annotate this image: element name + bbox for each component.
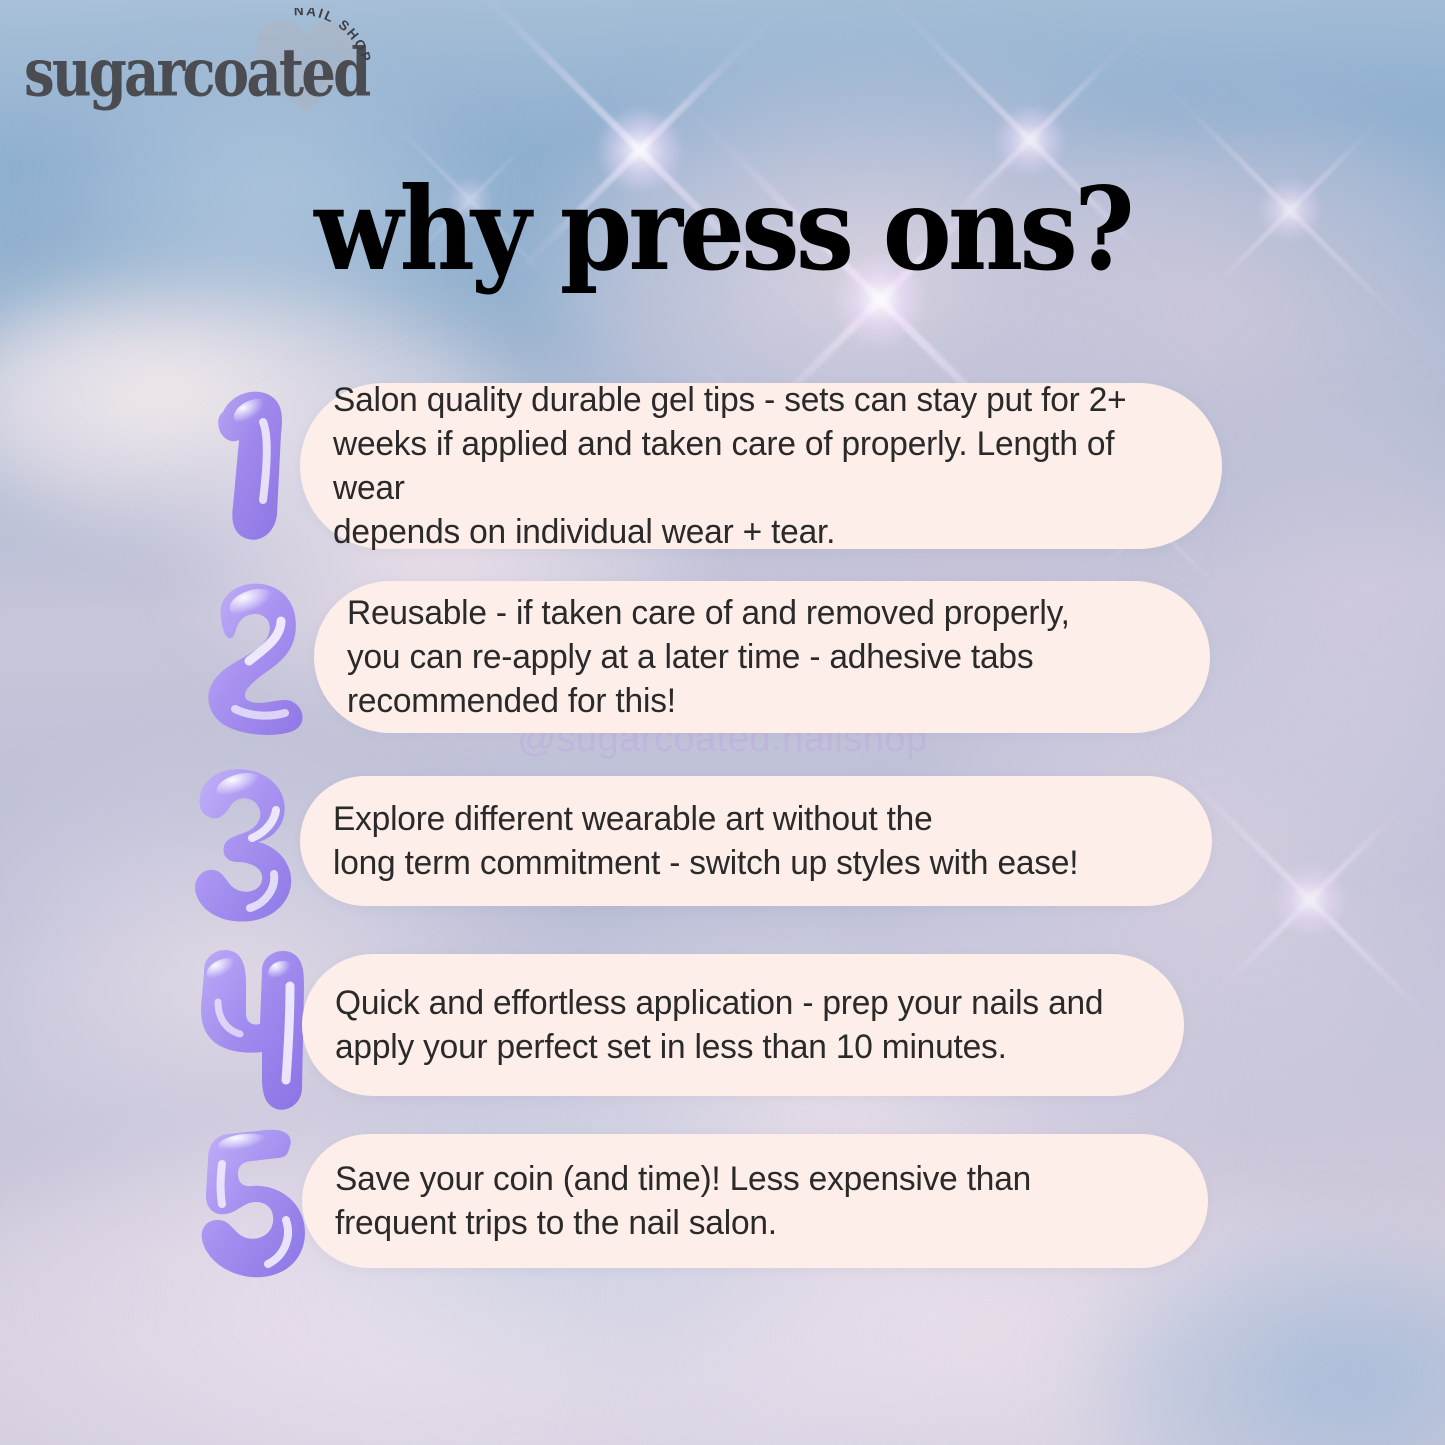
benefits-list: Salon quality durable gel tips - sets ca…: [0, 0, 1445, 1445]
number-1-balloon-icon: [196, 380, 316, 552]
benefit-text: Reusable - if taken care of and removed …: [314, 591, 1103, 723]
number-3-balloon-icon: [182, 764, 314, 924]
benefit-text: Salon quality durable gel tips - sets ca…: [300, 378, 1194, 555]
benefit-card: Reusable - if taken care of and removed …: [314, 581, 1210, 733]
number-5-balloon-icon: [192, 1130, 314, 1290]
number-2-balloon-icon: [192, 578, 318, 736]
poster-canvas: sugarcoated NAIL SHOP why press ons? @su…: [0, 0, 1445, 1445]
benefit-text: Save your coin (and time)! Less expensiv…: [302, 1157, 1064, 1245]
benefit-card: Quick and effortless application - prep …: [302, 954, 1184, 1096]
list-item: Explore different wearable art without t…: [0, 772, 1445, 910]
list-item: Salon quality durable gel tips - sets ca…: [0, 380, 1445, 552]
number-4-balloon-icon: [192, 946, 316, 1114]
list-item: Save your coin (and time)! Less expensiv…: [0, 1132, 1445, 1272]
benefit-text: Quick and effortless application - prep …: [302, 981, 1136, 1069]
benefit-card: Salon quality durable gel tips - sets ca…: [300, 383, 1222, 549]
list-item: Reusable - if taken care of and removed …: [0, 578, 1445, 736]
list-item: Quick and effortless application - prep …: [0, 950, 1445, 1102]
benefit-text: Explore different wearable art without t…: [300, 797, 1111, 885]
benefit-card: Explore different wearable art without t…: [300, 776, 1212, 906]
benefit-card: Save your coin (and time)! Less expensiv…: [302, 1134, 1208, 1268]
